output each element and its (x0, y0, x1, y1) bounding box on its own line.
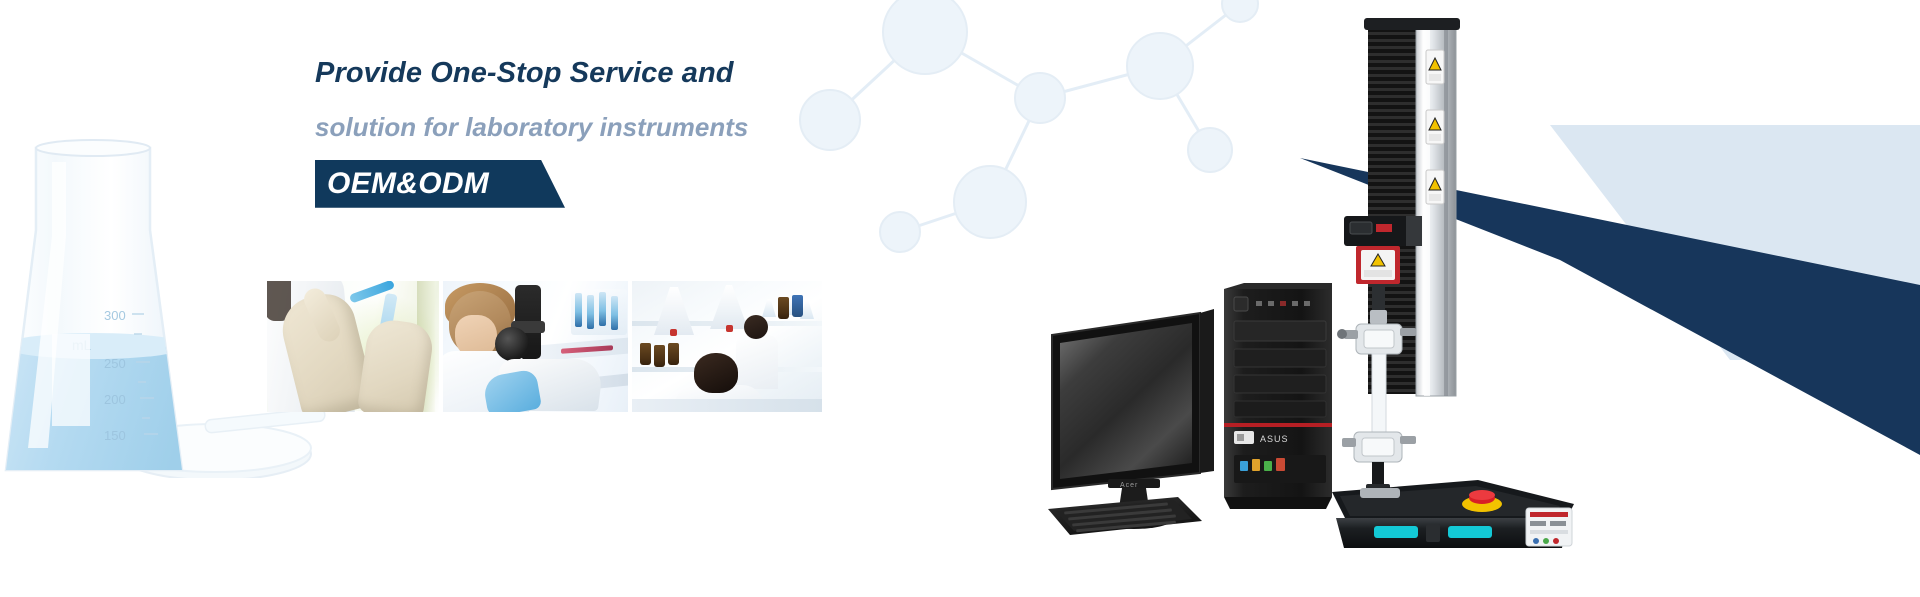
photo-microscope (443, 281, 628, 412)
oem-odm-tag-label: OEM&ODM (327, 164, 553, 204)
photo-strip (267, 281, 822, 412)
crosshead (1344, 216, 1422, 246)
keyboard (1048, 497, 1202, 535)
svg-text:150: 150 (104, 428, 126, 443)
svg-text:300: 300 (104, 308, 126, 323)
pc-tower: ASUS (1224, 283, 1332, 509)
oem-odm-tag: OEM&ODM (315, 160, 565, 208)
warning-labels (1426, 50, 1444, 204)
headline-block: Provide One-Stop Service and solution fo… (315, 58, 935, 208)
headline-line-1: Provide One-Stop Service and (315, 58, 935, 88)
lower-grip (1342, 432, 1416, 494)
svg-text:250: 250 (104, 356, 126, 371)
svg-text:Acer: Acer (1120, 482, 1138, 489)
headline-line-2: solution for laboratory instruments (315, 114, 935, 141)
photo-lab-team (632, 281, 822, 412)
wedge-light-triangle (1550, 125, 1920, 360)
desktop-computer-image: ASUS Acer (1048, 283, 1348, 553)
universal-testing-machine-image (1330, 18, 1600, 548)
svg-text:200: 200 (104, 392, 126, 407)
hero-banner: 300 250 200 150 mL Provide One-Stop Serv… (0, 0, 1920, 597)
load-cell (1356, 246, 1400, 284)
lcd-monitor: Acer (1052, 309, 1214, 529)
photo-pipetting (267, 281, 439, 412)
machine-base (1332, 480, 1574, 548)
svg-text:mL: mL (72, 337, 92, 353)
svg-text:ASUS: ASUS (1260, 434, 1289, 444)
